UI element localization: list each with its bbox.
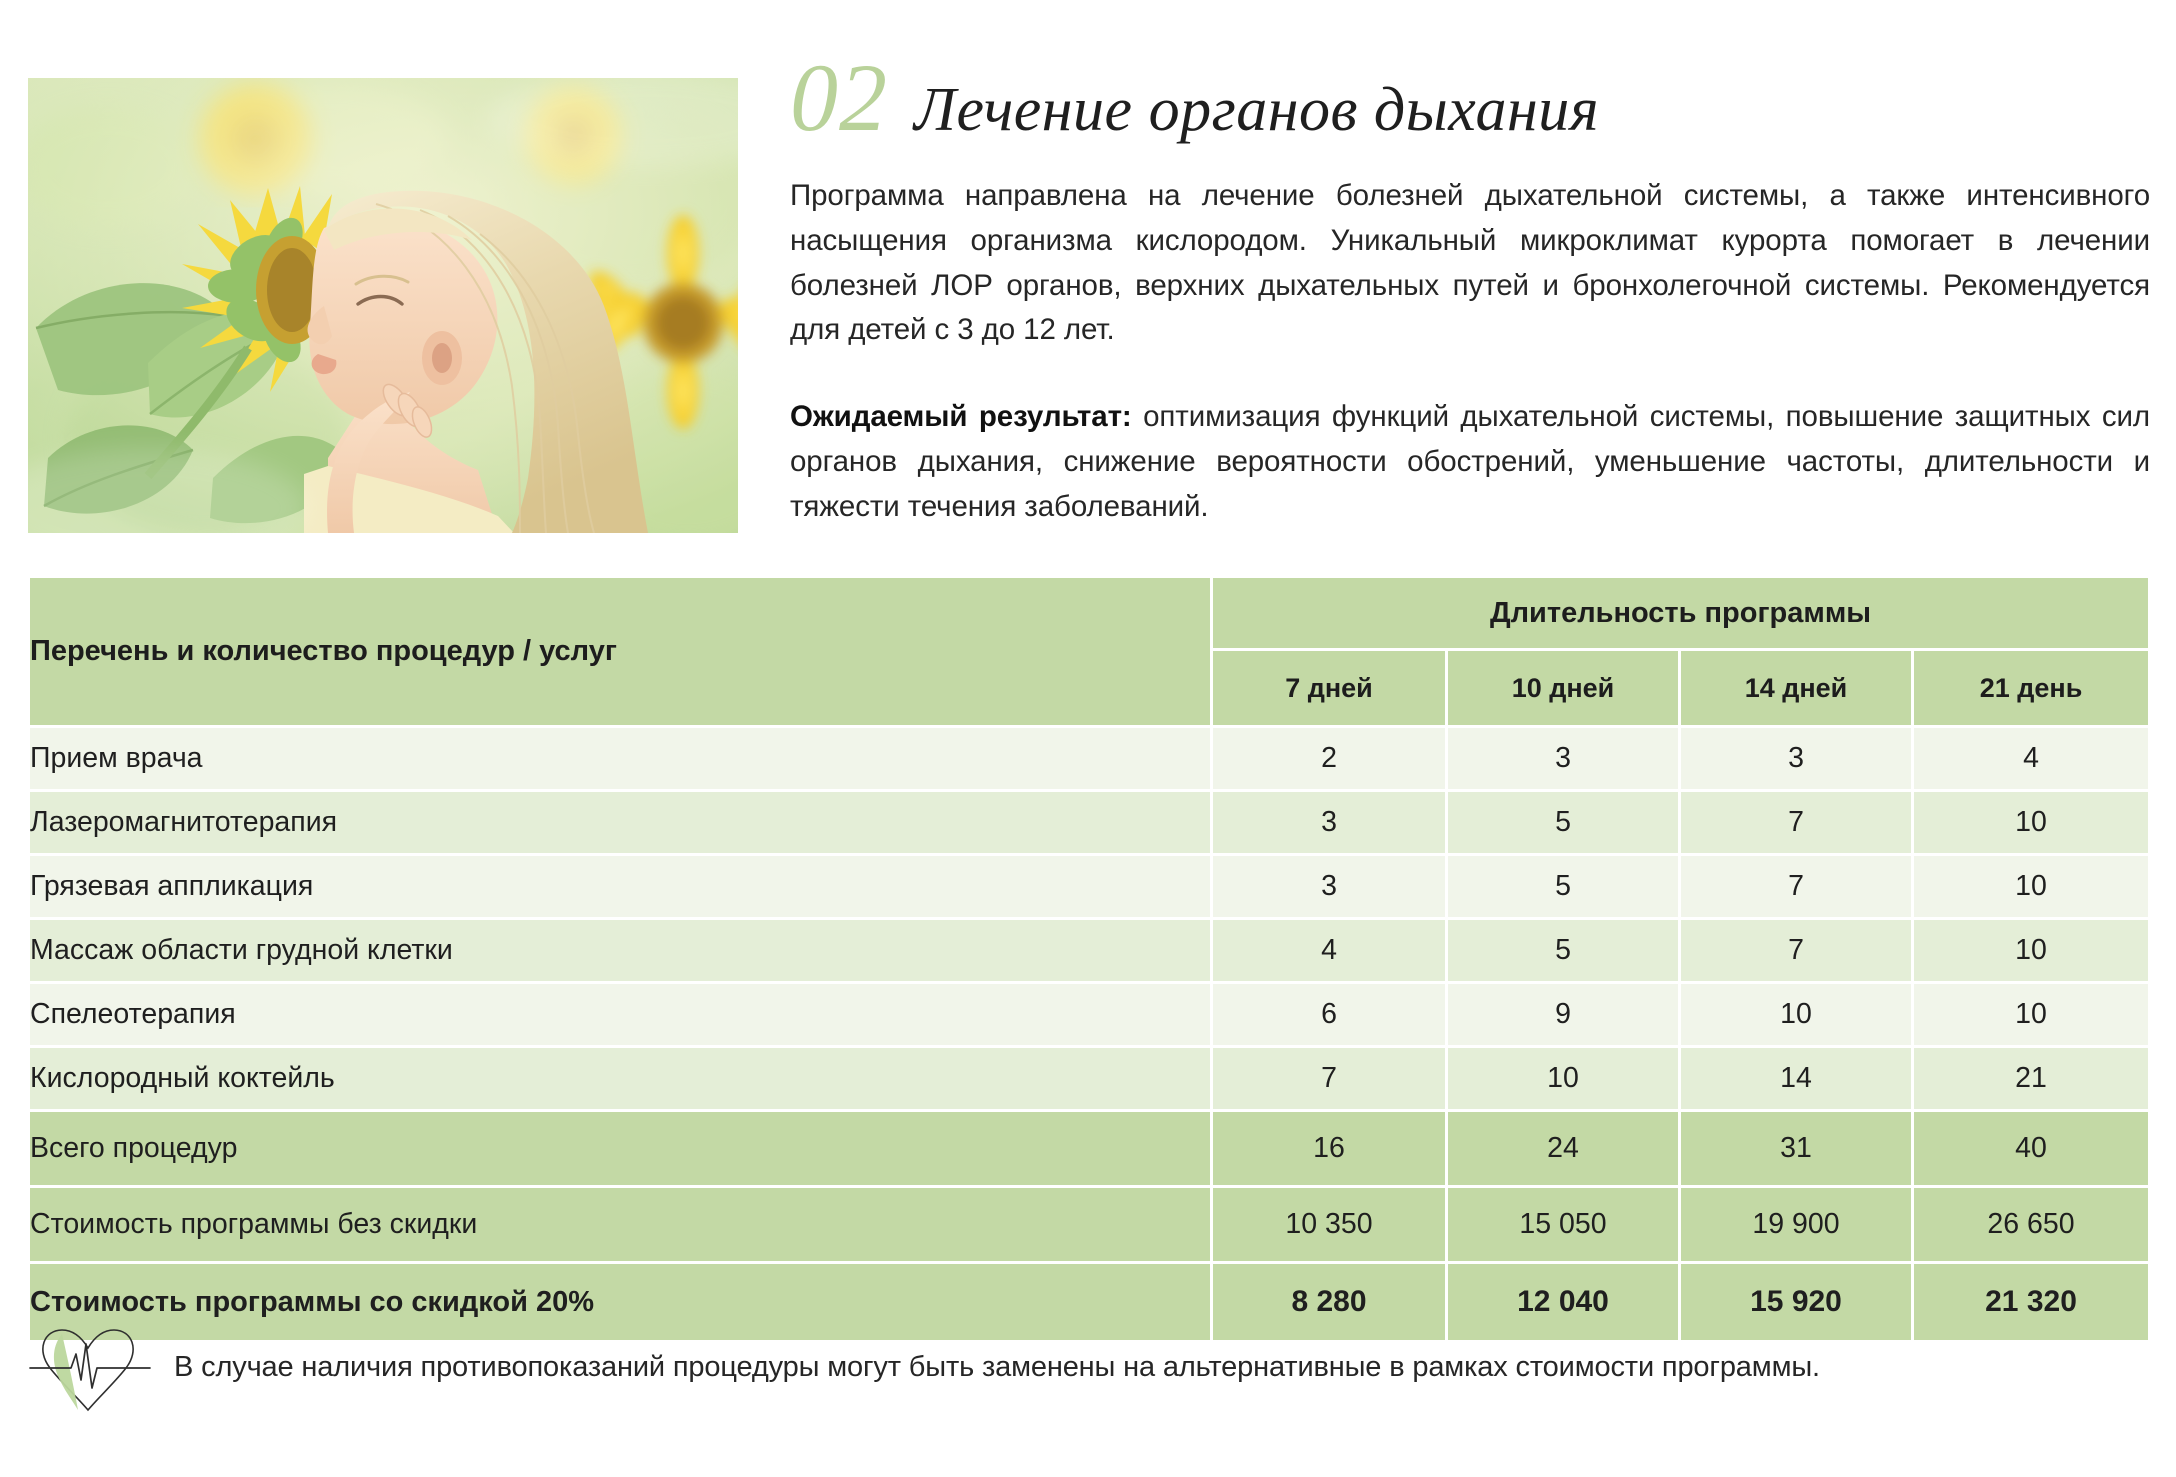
row-label: Прием врача xyxy=(30,728,1213,792)
intro-block: 02 Лечение органов дыхания Программа нап… xyxy=(790,50,2150,530)
row-value-7: 4 xyxy=(1213,920,1448,984)
girl-smelling-sunflower-illustration xyxy=(28,78,738,533)
table-header-col-21: 21 день xyxy=(1914,651,2148,728)
program-table: Перечень и количество процедур / услуг Д… xyxy=(30,578,2148,1340)
total-value-10: 24 xyxy=(1448,1112,1681,1188)
row-value-21: 10 xyxy=(1914,984,2148,1048)
table-row: Кислородный коктейль 7 10 14 21 xyxy=(30,1048,2148,1112)
expected-result-label: Ожидаемый результат: xyxy=(790,400,1132,433)
table-row: Массаж области грудной клетки 4 5 7 10 xyxy=(30,920,2148,984)
table-header-col-14: 14 дней xyxy=(1681,651,1914,728)
hero-photo xyxy=(28,78,738,533)
row-value-21: 10 xyxy=(1914,920,2148,984)
total-value-7: 16 xyxy=(1213,1112,1448,1188)
footer-note: В случае наличия противопоказаний процед… xyxy=(28,1318,2148,1418)
row-value-14: 7 xyxy=(1681,792,1914,856)
row-value-7: 6 xyxy=(1213,984,1448,1048)
row-label: Лазеромагнитотерапия xyxy=(30,792,1213,856)
table-row: Лазеромагнитотерапия 3 5 7 10 xyxy=(30,792,2148,856)
row-value-7: 3 xyxy=(1213,792,1448,856)
table-header-col-7: 7 дней xyxy=(1213,651,1448,728)
row-label: Спелеотерапия xyxy=(30,984,1213,1048)
row-value-21: 4 xyxy=(1914,728,2148,792)
heart-pulse-icon-svg xyxy=(28,1318,152,1418)
row-value-7: 3 xyxy=(1213,856,1448,920)
heart-pulse-icon xyxy=(28,1318,152,1418)
row-value-14: 3 xyxy=(1681,728,1914,792)
table-body: Прием врача 2 3 3 4 Лазеромагнитотерапия… xyxy=(30,728,2148,1340)
row-value-10: 10 xyxy=(1448,1048,1681,1112)
header-section: 02 Лечение органов дыхания Программа нап… xyxy=(0,0,2176,560)
row-value-14: 7 xyxy=(1681,856,1914,920)
row-value-10: 5 xyxy=(1448,792,1681,856)
row-value-7: 7 xyxy=(1213,1048,1448,1112)
table-row: Прием врача 2 3 3 4 xyxy=(30,728,2148,792)
table-header-name: Перечень и количество процедур / услуг xyxy=(30,578,1213,728)
total-value-14: 31 xyxy=(1681,1112,1914,1188)
price-value-7: 10 350 xyxy=(1213,1188,1448,1264)
row-value-10: 5 xyxy=(1448,856,1681,920)
intro-paragraph: Программа направлена на лечение болезней… xyxy=(790,174,2150,353)
table-row-total: Всего процедур 16 24 31 40 xyxy=(30,1112,2148,1188)
row-value-21: 21 xyxy=(1914,1048,2148,1112)
row-value-10: 9 xyxy=(1448,984,1681,1048)
price-label: Стоимость программы без скидки xyxy=(30,1188,1213,1264)
row-label: Грязевая аппликация xyxy=(30,856,1213,920)
row-value-7: 2 xyxy=(1213,728,1448,792)
footer-note-text: В случае наличия противопоказаний процед… xyxy=(174,1349,1820,1387)
table-row-price: Стоимость программы без скидки 10 350 15… xyxy=(30,1188,2148,1264)
table-header-col-10: 10 дней xyxy=(1448,651,1681,728)
table-row: Грязевая аппликация 3 5 7 10 xyxy=(30,856,2148,920)
table-header-duration-group: Длительность программы xyxy=(1213,578,2148,651)
brochure-page: 02 Лечение органов дыхания Программа нап… xyxy=(0,0,2176,1477)
row-value-21: 10 xyxy=(1914,856,2148,920)
table-head: Перечень и количество процедур / услуг Д… xyxy=(30,578,2148,728)
expected-result-paragraph: Ожидаемый результат: оптимизация функций… xyxy=(790,395,2150,529)
row-value-10: 3 xyxy=(1448,728,1681,792)
total-label: Всего процедур xyxy=(30,1112,1213,1188)
table-header-row-group: Перечень и количество процедур / услуг Д… xyxy=(30,578,2148,651)
price-value-10: 15 050 xyxy=(1448,1188,1681,1264)
row-value-14: 10 xyxy=(1681,984,1914,1048)
section-title-line: 02 Лечение органов дыхания xyxy=(790,50,2150,146)
row-label: Массаж области грудной клетки xyxy=(30,920,1213,984)
row-value-14: 14 xyxy=(1681,1048,1914,1112)
table-row: Спелеотерапия 6 9 10 10 xyxy=(30,984,2148,1048)
page-title: Лечение органов дыхания xyxy=(914,79,1599,141)
section-number: 02 xyxy=(790,50,888,146)
row-value-14: 7 xyxy=(1681,920,1914,984)
row-label: Кислородный коктейль xyxy=(30,1048,1213,1112)
price-value-21: 26 650 xyxy=(1914,1188,2148,1264)
row-value-21: 10 xyxy=(1914,792,2148,856)
row-value-10: 5 xyxy=(1448,920,1681,984)
total-value-21: 40 xyxy=(1914,1112,2148,1188)
price-value-14: 19 900 xyxy=(1681,1188,1914,1264)
